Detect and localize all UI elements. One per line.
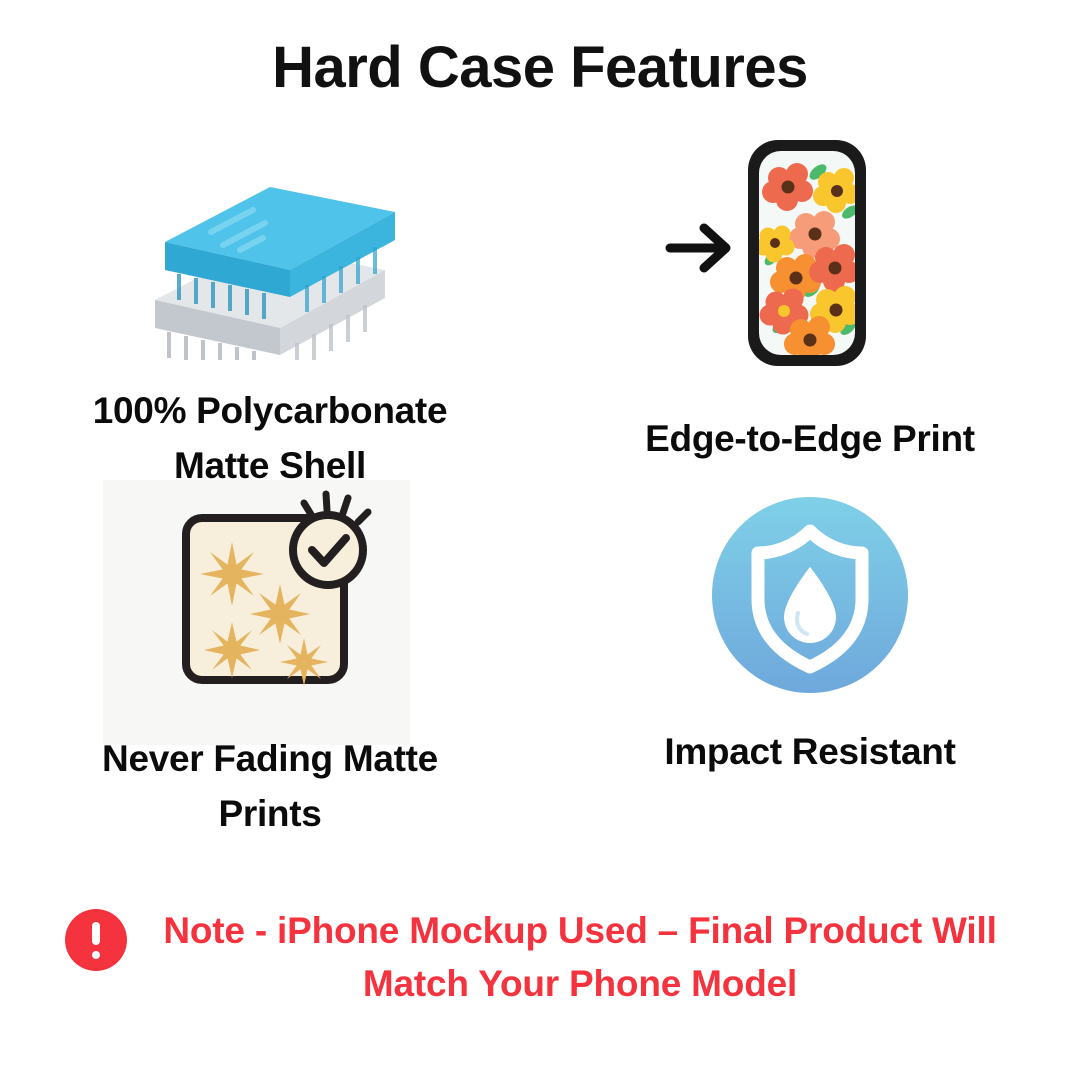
feature-label-line: Prints: [0, 787, 540, 842]
feature-card-impact-resistant: Impact Resistant: [540, 495, 1080, 780]
feature-label-line: 100% Polycarbonate: [0, 384, 540, 439]
exclamation-badge-icon: [65, 909, 127, 971]
feature-infographic: Hard Case Features: [0, 0, 1080, 1080]
feature-label-line: Impact Resistant: [540, 725, 1080, 780]
feature-card-edge-to-edge: Edge-to-Edge Print: [540, 130, 1080, 467]
note-text: Note - iPhone Mockup Used – Final Produc…: [145, 905, 1015, 1010]
feature-label-line: Never Fading Matte: [0, 732, 540, 787]
page-title: Hard Case Features: [0, 34, 1080, 101]
arrow-right-icon: [670, 228, 726, 268]
floral-phone-case-icon: [540, 130, 1080, 380]
shield-droplet-icon: [540, 495, 1080, 695]
feature-label-line: Edge-to-Edge Print: [540, 412, 1080, 467]
note-banner: Note - iPhone Mockup Used – Final Produc…: [0, 905, 1080, 1010]
feature-label-impact-resistant: Impact Resistant: [540, 725, 1080, 780]
layered-slabs-icon: [0, 150, 540, 360]
sparkle-print-check-icon: [0, 470, 540, 720]
feature-label-edge-to-edge: Edge-to-Edge Print: [540, 412, 1080, 467]
feature-card-polycarbonate: 100% Polycarbonate Matte Shell: [0, 150, 540, 494]
feature-card-never-fading: Never Fading Matte Prints: [0, 470, 540, 842]
feature-label-never-fading: Never Fading Matte Prints: [0, 732, 540, 842]
